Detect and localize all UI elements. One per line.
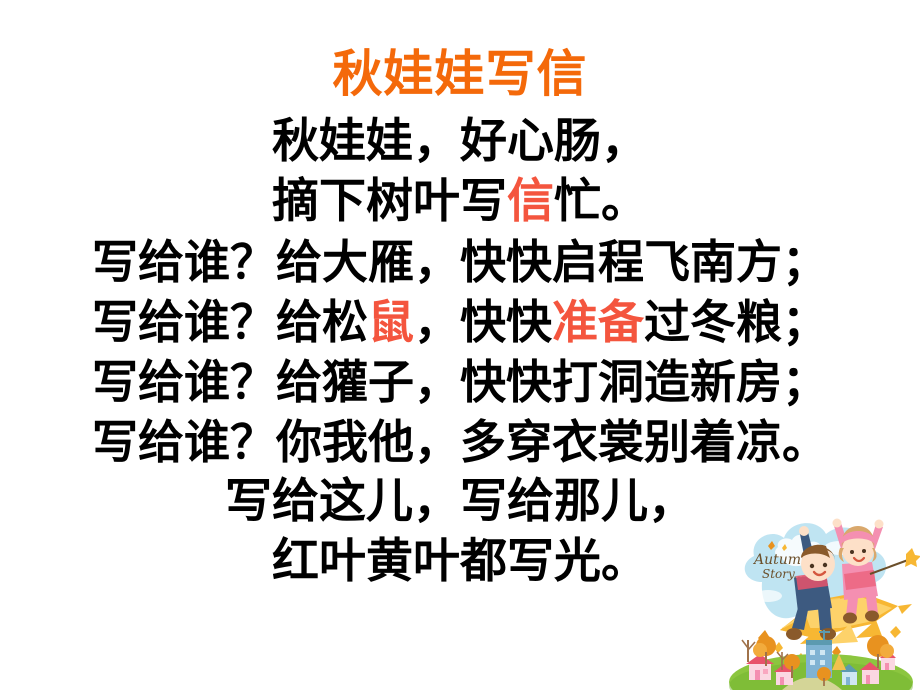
poem-text: 过冬粮；: [644, 295, 828, 349]
highlighted-text: 准备: [552, 295, 644, 349]
poem-text: 写给谁？给松: [92, 295, 368, 349]
autumn-story-illustration: Autumn Story...: [722, 512, 920, 690]
poem-text: 红叶黄叶都写光。: [272, 534, 648, 589]
poem-text: 写给这儿，写给那儿，: [225, 474, 695, 529]
poem-line: 写给谁？给大雁，快快启程飞南方；: [0, 232, 920, 292]
poem-text: 写给谁？给大雁，快快启程飞南方；: [92, 235, 828, 289]
poem-line: 秋娃娃，好心肠，: [0, 112, 920, 172]
poem-line: 写给谁？你我他，多穿衣裳别着凉。: [0, 412, 920, 472]
poem-text: 摘下树叶写: [272, 174, 507, 229]
poem-text: 写给谁？你我他，多穿衣裳别着凉。: [92, 415, 828, 469]
poem-text: ，快快: [414, 295, 552, 349]
slide-canvas: 秋娃娃写信 秋娃娃，好心肠，摘下树叶写信忙。写给谁？给大雁，快快启程飞南方；写给…: [0, 0, 920, 690]
poem-text: 秋娃娃，好心肠，: [272, 114, 648, 169]
poem-text: 忙。: [554, 174, 648, 229]
poem-line: 摘下树叶写信忙。: [0, 172, 920, 232]
highlighted-text: 鼠: [368, 295, 414, 349]
poem-line: 写给谁？给獾子，快快打洞造新房；: [0, 352, 920, 412]
highlighted-text: 信: [507, 174, 554, 229]
page-title: 秋娃娃写信: [0, 44, 920, 104]
page-title-text: 秋娃娃写信: [333, 45, 588, 103]
poem-text: 写给谁？给獾子，快快打洞造新房；: [92, 355, 828, 409]
poem-line: 写给谁？给松鼠，快快准备过冬粮；: [0, 292, 920, 352]
